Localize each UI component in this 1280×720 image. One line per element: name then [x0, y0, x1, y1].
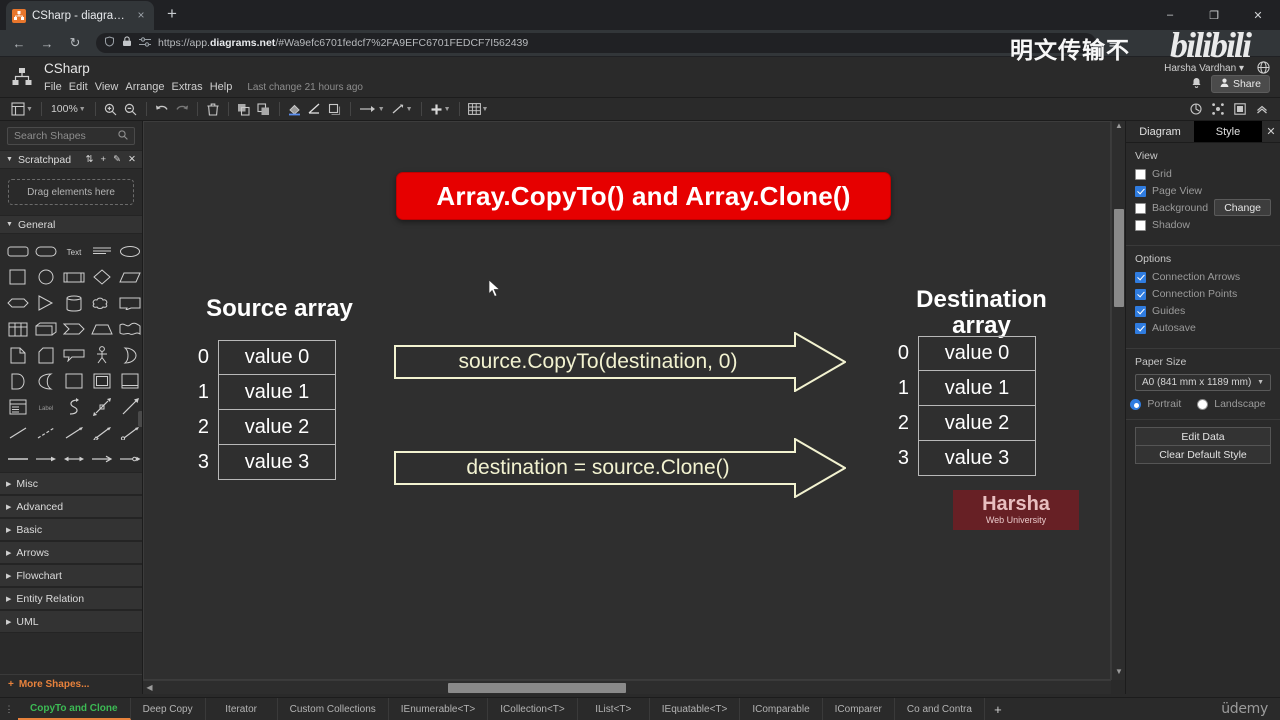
svg-text:Label: Label [39, 406, 54, 412]
landscape-label: Landscape [1214, 398, 1265, 410]
row-value[interactable]: value 2 [918, 406, 1036, 441]
row-index: 2 [894, 412, 918, 435]
page-view-label: Page View [1152, 185, 1202, 197]
grid-label: Grid [1152, 168, 1172, 180]
plus-icon: + [8, 679, 14, 690]
fill-color-icon[interactable] [285, 99, 305, 120]
shield-icon [104, 36, 115, 50]
more-shapes-label: More Shapes... [19, 679, 90, 690]
to-front-icon[interactable] [234, 99, 254, 120]
copyto-arrow-label: source.CopyTo(destination, 0) [394, 332, 846, 392]
collapse-icon[interactable] [1252, 99, 1272, 120]
tab-style[interactable]: Style [1194, 121, 1262, 142]
shape-cube-icon[interactable] [35, 320, 57, 338]
checkbox-autosave[interactable]: Autosave [1135, 322, 1271, 334]
shape-curve-arrow-icon[interactable] [63, 398, 85, 416]
shape-rounded-rect2-icon[interactable] [35, 242, 57, 260]
browser-tabstrip: CSharp - diagrams.net × + – ❐ ✕ [0, 0, 1280, 30]
sheet-tab-icollection[interactable]: ICollection<T> [488, 698, 577, 720]
checkbox-grid[interactable]: Grid [1135, 168, 1271, 180]
table-icon[interactable]: ▼ [465, 99, 492, 120]
portrait-label: Portrait [1147, 398, 1181, 410]
shadow-icon[interactable] [325, 99, 345, 120]
shape-line-diamond-icon[interactable] [91, 424, 113, 442]
vertical-scroll-thumb[interactable] [1114, 209, 1124, 307]
redo-icon[interactable] [172, 99, 192, 120]
row-index: 2 [194, 416, 218, 439]
shape-line-icon[interactable] [7, 424, 29, 442]
row-value[interactable]: value 0 [218, 340, 336, 375]
line-color-icon[interactable] [305, 99, 325, 120]
view-heading: View [1135, 150, 1271, 162]
reload-icon[interactable]: ↻ [62, 31, 88, 55]
sheet-tabbar: ⋮ CopyTo and Clone Deep Copy Iterator Cu… [0, 697, 1280, 720]
chevron-right-icon: ▶ [6, 549, 11, 557]
diagrams-app: CSharp File Edit View Arrange Extras Hel… [0, 57, 1280, 720]
sidebar-item-entity-relation[interactable]: ▶Entity Relation [0, 587, 142, 610]
share-label: Share [1233, 78, 1261, 90]
scroll-down-icon[interactable]: ▼ [1112, 667, 1125, 680]
autosave-label: Autosave [1152, 322, 1196, 334]
table-row[interactable]: 2value 2 [194, 410, 336, 445]
shape-triangle-icon[interactable] [35, 294, 57, 312]
sheet-tab-co-and-contra[interactable]: Co and Contra [895, 698, 985, 720]
horizontal-scroll-thumb[interactable] [448, 683, 626, 693]
shape-ellipse-icon[interactable] [119, 242, 141, 260]
minimize-icon[interactable]: – [1148, 0, 1192, 30]
browser-tab-title: CSharp - diagrams.net [32, 10, 128, 22]
format-paper-section: Paper Size A0 (841 mm x 1189 mm) ▼ Portr… [1126, 349, 1280, 420]
copyto-arrow-shape[interactable]: source.CopyTo(destination, 0) [394, 332, 846, 392]
shape-callout-icon[interactable] [119, 294, 141, 312]
row-index: 1 [194, 381, 218, 404]
to-back-icon[interactable] [254, 99, 274, 120]
diagram-canvas[interactable]: Array.CopyTo() and Array.Clone() Source … [143, 121, 1125, 694]
menu-arrange[interactable]: Arrange [125, 80, 171, 94]
row-value[interactable]: value 3 [218, 445, 336, 480]
sidebar-item-misc[interactable]: ▶Misc [0, 472, 142, 495]
checkbox-background[interactable]: Background Change [1135, 202, 1271, 214]
shape-box-icon[interactable] [63, 372, 85, 390]
more-shapes-button[interactable]: + More Shapes... [0, 674, 143, 694]
chevron-right-icon: ▶ [6, 595, 11, 603]
zoom-in-icon[interactable] [101, 99, 121, 120]
app-header: CSharp File Edit View Arrange Extras Hel… [0, 57, 1280, 98]
shape-step-icon[interactable] [63, 320, 85, 338]
chevron-right-icon: ▶ [6, 572, 11, 580]
checkbox-shadow[interactable]: Shadow [1135, 219, 1271, 231]
menu-help[interactable]: Help [210, 80, 240, 94]
insert-icon[interactable]: ▼ [427, 99, 454, 120]
options-heading: Options [1135, 253, 1271, 265]
sidebar-item-advanced[interactable]: ▶Advanced [0, 495, 142, 518]
back-icon[interactable]: ← [6, 31, 32, 55]
sidebar-item-label: Misc [16, 478, 38, 490]
shape-diamond-icon[interactable] [91, 268, 113, 286]
clone-arrow-shape[interactable]: destination = source.Clone() [394, 438, 846, 498]
format-panel-tabs: Diagram Style ✕ [1126, 121, 1280, 143]
checkbox-guides[interactable]: Guides [1135, 305, 1271, 317]
sidebar-section-general[interactable]: ▼ General [0, 215, 142, 234]
canvas-page[interactable]: Array.CopyTo() and Array.Clone() Source … [143, 121, 1111, 680]
person-icon [1220, 78, 1229, 90]
table-row[interactable]: 1value 1 [894, 371, 1036, 406]
sidebar-item-uml[interactable]: ▶UML [0, 610, 142, 633]
undo-icon[interactable] [152, 99, 172, 120]
portrait-radio[interactable] [1130, 399, 1141, 410]
browser-menu-icon[interactable]: ≡ [1102, 32, 1124, 54]
shape-note-icon[interactable] [35, 346, 57, 364]
shadow-label: Shadow [1152, 219, 1190, 231]
view-icon[interactable]: ▼ [8, 99, 36, 120]
permissions-icon[interactable] [139, 37, 151, 50]
shape-plain-line-icon[interactable] [7, 450, 29, 468]
maximize-icon[interactable]: ❐ [1192, 0, 1236, 30]
sheet-menu-icon[interactable]: ⋮ [0, 698, 18, 720]
source-array-label[interactable]: Source array [187, 295, 372, 323]
share-button[interactable]: Share [1211, 75, 1270, 93]
shape-parallelogram-icon[interactable] [119, 268, 141, 286]
sidebar-item-flowchart[interactable]: ▶Flowchart [0, 564, 142, 587]
shape-actor-icon[interactable] [91, 346, 113, 364]
shape-halfcircle-icon[interactable] [7, 372, 29, 390]
mouse-cursor-icon [488, 279, 501, 300]
background-label: Background [1152, 202, 1208, 214]
sort-icon[interactable]: ⇅ [86, 154, 94, 165]
app-root: CSharp - diagrams.net × + – ❐ ✕ ← → ↻ ht… [0, 0, 1280, 720]
shape-circle-icon[interactable] [35, 268, 57, 286]
autosave-checkbox[interactable] [1135, 323, 1146, 334]
table-row[interactable]: 1value 1 [194, 375, 336, 410]
destination-label-line1: Destination [916, 286, 1047, 313]
sheet-tab-iequatable[interactable]: IEquatable<T> [650, 698, 741, 720]
sheet-tab-copyto-and-clone[interactable]: CopyTo and Clone [18, 698, 131, 720]
outline-icon[interactable] [1208, 99, 1228, 120]
row-value[interactable]: value 1 [218, 375, 336, 410]
format-actions-section: Edit Data Clear Default Style [1126, 420, 1280, 464]
row-index: 3 [894, 447, 918, 470]
toolbar-right-group [1186, 99, 1272, 120]
diagrams-logo-icon[interactable] [10, 65, 34, 89]
layers-icon[interactable] [1230, 99, 1250, 120]
scratchpad-dropzone[interactable]: Drag elements here [8, 179, 134, 205]
edit-data-button[interactable]: Edit Data [1135, 427, 1271, 446]
sidebar-item-label: Entity Relation [16, 593, 84, 605]
diagram-title-banner[interactable]: Array.CopyTo() and Array.Clone() [396, 172, 891, 220]
shape-rounded-rect-icon[interactable] [7, 242, 29, 260]
close-icon[interactable]: × [134, 9, 148, 23]
harsha-watermark-title: Harsha [982, 494, 1050, 514]
close-icon[interactable]: ✕ [128, 154, 136, 165]
shape-line-end-arrow-icon[interactable] [35, 450, 57, 468]
shape-cylinder-icon[interactable] [63, 294, 85, 312]
shape-document-icon[interactable] [7, 346, 29, 364]
browser-tab[interactable]: CSharp - diagrams.net × [6, 1, 154, 30]
guides-label: Guides [1152, 305, 1185, 317]
change-background-button[interactable]: Change [1214, 199, 1271, 216]
shapes-sidebar: Search Shapes ▼ Scratchpad ⇅ + ✎ ✕ [0, 121, 143, 694]
chevron-down-icon: ▼ [1257, 379, 1264, 386]
waypoints-icon[interactable]: ▼ [388, 99, 416, 120]
shape-container-icon[interactable] [119, 372, 141, 390]
format-panel: Diagram Style ✕ View Grid Page View Back… [1125, 121, 1280, 694]
search-wrapper: Search Shapes [0, 121, 142, 150]
clone-arrow-label: destination = source.Clone() [394, 438, 846, 498]
shape-crescent-icon[interactable] [119, 346, 141, 364]
destination-array-table[interactable]: 0value 0 1value 1 2value 2 3value 3 [894, 336, 1036, 476]
lock-icon [122, 36, 132, 50]
udemy-logo: üdemy [1221, 701, 1268, 717]
editor-toolbar: ▼ 100%▼ [0, 98, 1280, 121]
shape-double-arrow-icon[interactable] [91, 398, 113, 416]
sheet-tab-ilist[interactable]: IList<T> [578, 698, 650, 720]
shape-line-circle-icon[interactable] [119, 424, 141, 442]
shape-palette: Text [0, 234, 142, 472]
connection-icon[interactable]: ▼ [356, 99, 388, 120]
canvas-vertical-scrollbar[interactable]: ▲ ▼ [1111, 121, 1125, 680]
shape-library-sections: ▶Misc ▶Advanced ▶Basic ▶Arrows ▶Flowchar… [0, 472, 142, 633]
guides-checkbox[interactable] [1135, 306, 1146, 317]
row-value[interactable]: value 1 [918, 371, 1036, 406]
row-index: 1 [894, 377, 918, 400]
format-options-section: Options Connection Arrows Connection Poi… [1126, 246, 1280, 349]
plus-icon[interactable]: + [101, 154, 107, 165]
last-change-label: Last change 21 hours ago [247, 82, 363, 93]
shape-textbox-icon[interactable] [91, 242, 113, 260]
shape-line-circle-arrow-icon[interactable] [119, 450, 141, 468]
orientation-group: Portrait Landscape [1135, 398, 1271, 410]
connection-arrows-checkbox[interactable] [1135, 272, 1146, 283]
paper-size-heading: Paper Size [1135, 356, 1271, 368]
shape-label-icon[interactable]: Label [35, 398, 57, 416]
chevron-down-icon[interactable]: ▼ [26, 106, 33, 113]
shadow-checkbox[interactable] [1135, 220, 1146, 231]
page-title[interactable]: CSharp [44, 61, 90, 76]
sidebar-item-label: Advanced [16, 501, 63, 513]
menu-bar: File Edit View Arrange Extras Help Last … [44, 80, 363, 94]
row-index: 3 [194, 451, 218, 474]
paper-size-value: A0 (841 mm x 1189 mm) [1142, 377, 1251, 388]
sheet-tab-iterator[interactable]: Iterator [206, 698, 278, 720]
checkbox-connection-arrows[interactable]: Connection Arrows [1135, 271, 1271, 283]
shape-cloud-icon[interactable] [91, 294, 113, 312]
sidebar-section-scratchpad[interactable]: ▼ Scratchpad ⇅ + ✎ ✕ [0, 150, 142, 169]
svg-text:Text: Text [67, 248, 82, 257]
checkbox-page-view[interactable]: Page View [1135, 185, 1271, 197]
general-label: General [18, 219, 55, 231]
chevron-down-icon: ▼ [6, 156, 13, 163]
shape-dashed-line-icon[interactable] [35, 424, 57, 442]
shape-tape-icon[interactable] [119, 320, 141, 338]
scroll-up-icon[interactable]: ▲ [1112, 121, 1125, 134]
shape-text-icon[interactable]: Text [63, 242, 85, 260]
sidebar-item-label: Basic [16, 524, 42, 536]
shape-trapezoid-icon[interactable] [91, 320, 113, 338]
shape-speech-icon[interactable] [63, 346, 85, 364]
table-row[interactable]: 3value 3 [194, 445, 336, 480]
forward-icon[interactable]: → [34, 31, 60, 55]
user-menu[interactable]: Harsha Vardhan ▾ [1164, 63, 1244, 74]
scratchpad-actions: ⇅ + ✎ ✕ [86, 154, 136, 165]
diagrams-icon [12, 9, 26, 23]
row-value[interactable]: value 2 [218, 410, 336, 445]
connection-points-label: Connection Points [1152, 288, 1237, 300]
landscape-radio[interactable] [1197, 399, 1208, 410]
url-bar[interactable]: https://app.diagrams.net/#Wa9efc6701fedc… [96, 33, 1096, 53]
sheet-tab-icomparer[interactable]: IComparer [823, 698, 895, 720]
edit-icon[interactable]: ✎ [113, 154, 121, 165]
chevron-down-icon: ▼ [6, 221, 13, 228]
shape-hexagon-icon[interactable] [7, 294, 29, 312]
format-view-section: View Grid Page View Background Change Sh… [1126, 143, 1280, 246]
table-row[interactable]: 3value 3 [894, 441, 1036, 476]
source-array-table[interactable]: 0value 0 1value 1 2value 2 3value 3 [194, 340, 336, 480]
connection-points-checkbox[interactable] [1135, 289, 1146, 300]
search-icon[interactable] [118, 130, 128, 143]
menu-view[interactable]: View [95, 80, 126, 94]
checkbox-connection-points[interactable]: Connection Points [1135, 288, 1271, 300]
chevron-right-icon: ▶ [6, 480, 11, 488]
chevron-right-icon: ▶ [6, 503, 11, 511]
harsha-watermark-subtitle: Web University [986, 514, 1046, 526]
shape-list-icon[interactable] [7, 398, 29, 416]
shape-line-arrow-icon[interactable] [63, 424, 85, 442]
destination-label-line2: array [952, 312, 1011, 339]
shape-line-open-arrow-icon[interactable] [91, 450, 113, 468]
delete-icon[interactable] [203, 99, 223, 120]
sidebar-item-basic[interactable]: ▶Basic [0, 518, 142, 541]
window-close-icon[interactable]: ✕ [1236, 0, 1280, 30]
format-panel-icon[interactable] [1186, 99, 1206, 120]
search-input[interactable]: Search Shapes [7, 127, 135, 145]
table-row[interactable]: 0value 0 [194, 340, 336, 375]
shape-square-icon[interactable] [7, 268, 29, 286]
table-row[interactable]: 0value 0 [894, 336, 1036, 371]
window-controls: – ❐ ✕ [1148, 0, 1280, 30]
destination-array-label[interactable]: Destination array [899, 287, 1064, 339]
chevron-right-icon: ▶ [6, 526, 11, 534]
sidebar-item-label: UML [16, 616, 38, 628]
editor-body: Search Shapes ▼ Scratchpad ⇅ + ✎ ✕ [0, 121, 1280, 694]
shape-line-both-arrow-icon[interactable] [63, 450, 85, 468]
shape-frame-icon[interactable] [91, 372, 113, 390]
page-view-checkbox[interactable] [1135, 186, 1146, 197]
sheet-tab-deep-copy[interactable]: Deep Copy [131, 698, 206, 720]
menu-file[interactable]: File [44, 80, 69, 94]
grid-checkbox[interactable] [1135, 169, 1146, 180]
background-checkbox[interactable] [1135, 203, 1146, 214]
shape-moon-icon[interactable] [35, 372, 57, 390]
harsha-watermark: Harsha Web University [953, 490, 1079, 530]
zoom-out-icon[interactable] [121, 99, 141, 120]
canvas-horizontal-scrollbar[interactable]: ◀ [143, 680, 1111, 694]
clear-default-style-button[interactable]: Clear Default Style [1135, 445, 1271, 464]
scroll-left-icon[interactable]: ◀ [143, 681, 156, 694]
paper-size-select[interactable]: A0 (841 mm x 1189 mm) ▼ [1135, 374, 1271, 391]
connection-arrows-label: Connection Arrows [1152, 271, 1240, 283]
close-icon[interactable]: ✕ [1262, 121, 1280, 142]
sidebar-item-arrows[interactable]: ▶Arrows [0, 541, 142, 564]
sidebar-item-label: Arrows [16, 547, 49, 559]
menu-edit[interactable]: Edit [69, 80, 95, 94]
bell-icon[interactable] [1191, 77, 1202, 92]
new-tab-button[interactable]: + [158, 1, 186, 29]
scratchpad-label: Scratchpad [18, 154, 71, 166]
chevron-right-icon: ▶ [6, 618, 11, 626]
url-text: https://app.diagrams.net/#Wa9efc6701fedc… [158, 37, 528, 49]
zoom-level[interactable]: 100%▼ [47, 99, 90, 120]
search-placeholder: Search Shapes [14, 130, 118, 142]
shape-process-icon[interactable] [63, 268, 85, 286]
sheet-tab-icomparable[interactable]: IComparable [740, 698, 822, 720]
menu-extras[interactable]: Extras [172, 80, 210, 94]
row-value[interactable]: value 3 [918, 441, 1036, 476]
browser-toolbar: ← → ↻ https://app.diagrams.net/#Wa9efc67… [0, 30, 1280, 57]
sheet-tab-ienumerable[interactable]: IEnumerable<T> [389, 698, 489, 720]
table-row[interactable]: 2value 2 [894, 406, 1036, 441]
add-sheet-button[interactable]: + [985, 698, 1011, 720]
shape-table-icon[interactable] [7, 320, 29, 338]
sheet-tab-custom-collections[interactable]: Custom Collections [278, 698, 389, 720]
tab-diagram[interactable]: Diagram [1126, 121, 1194, 142]
row-value[interactable]: value 0 [918, 336, 1036, 371]
row-index: 0 [894, 342, 918, 365]
sidebar-item-label: Flowchart [16, 570, 62, 582]
row-index: 0 [194, 346, 218, 369]
